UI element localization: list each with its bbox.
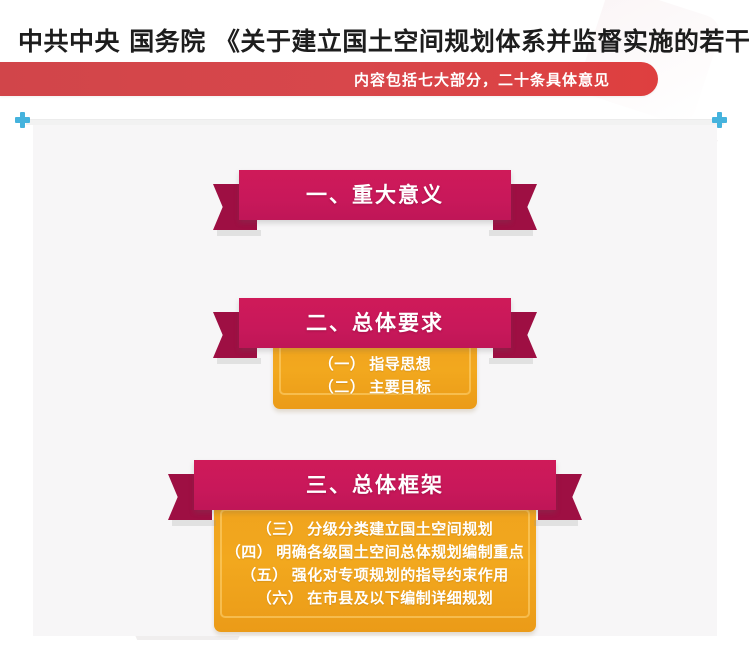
ribbon-banner-3: 三、总体框架 bbox=[168, 460, 582, 526]
list-item-label: 在市县及以下编制详细规划 bbox=[307, 589, 493, 607]
list-item: （四）明确各级国土空间总体规划编制重点 bbox=[214, 541, 536, 564]
ribbon-shadow-right bbox=[534, 520, 578, 526]
section-block-3: （三）分级分类建立国土空间规划 （四）明确各级国土空间总体规划编制重点 （五）强… bbox=[168, 460, 582, 634]
section-title-3: 三、总体框架 bbox=[168, 460, 582, 510]
section-title-2: 二、总体要求 bbox=[213, 298, 537, 348]
list-item-number: （五） bbox=[241, 566, 288, 584]
ribbon-shadow-left bbox=[217, 358, 261, 364]
header: 中共中央 国务院 《关于建立国土空间规划体系并监督实施的若干意见》 内容包括七大… bbox=[0, 0, 750, 112]
list-item: （六）在市县及以下编制详细规划 bbox=[214, 587, 536, 610]
page-title: 中共中央 国务院 《关于建立国土空间规划体系并监督实施的若干意见》 bbox=[18, 22, 750, 58]
ribbon-banner-2: 二、总体要求 bbox=[213, 298, 537, 364]
list-item-label: 明确各级国土空间总体规划编制重点 bbox=[276, 543, 524, 561]
ribbon-shadow-left bbox=[172, 520, 216, 526]
section-block-2: （一）指导思想 （二）主要目标 二、总体要求 bbox=[213, 298, 537, 416]
list-item: （二）主要目标 bbox=[273, 376, 477, 399]
list-item-number: （二） bbox=[319, 378, 366, 396]
header-divider bbox=[26, 119, 724, 125]
list-item: （五）强化对专项规划的指导约束作用 bbox=[214, 564, 536, 587]
infographic-page: DRC 学习平台 中共中央 国务院 《关于建立国土空间规划体系并监督实施的若干意… bbox=[0, 0, 750, 646]
ribbon-shadow-left bbox=[217, 230, 261, 236]
section-block-1: 一、重大意义 bbox=[213, 170, 537, 242]
ribbon-shadow-right bbox=[489, 230, 533, 236]
subtitle-text: 内容包括七大部分，二十条具体意见 bbox=[354, 69, 610, 90]
ribbon-banner-1: 一、重大意义 bbox=[213, 170, 537, 236]
section-title-1: 一、重大意义 bbox=[213, 170, 537, 220]
list-item-number: （四） bbox=[226, 543, 273, 561]
ribbon-shadow-right bbox=[489, 358, 533, 364]
plus-icon-right bbox=[712, 112, 727, 128]
subtitle-band: 内容包括七大部分，二十条具体意见 bbox=[0, 62, 658, 96]
section-item-list-3: （三）分级分类建立国土空间规划 （四）明确各级国土空间总体规划编制重点 （五）强… bbox=[214, 518, 536, 610]
plus-icon-left bbox=[15, 112, 30, 128]
list-item-label: 强化对专项规划的指导约束作用 bbox=[292, 566, 509, 584]
list-item-number: （六） bbox=[257, 589, 304, 607]
list-item-label: 主要目标 bbox=[369, 378, 431, 396]
